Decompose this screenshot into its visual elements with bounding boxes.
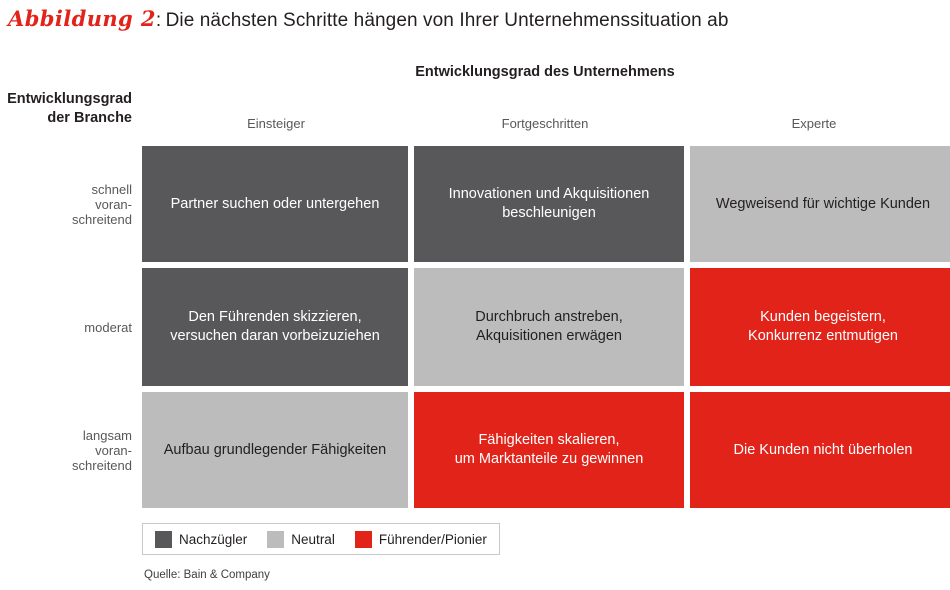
column-header-fortgeschritten: Fortgeschritten [410, 116, 680, 131]
matrix-cell-r0-c0: Partner suchen oder untergehen [142, 146, 408, 262]
row-headers: schnell voran- schreitend moderat langsa… [0, 146, 132, 508]
matrix-cell-line: Durchbruch anstreben, [475, 308, 623, 327]
matrix-cell-line: Die Kunden nicht überholen [734, 441, 913, 460]
row-header-line: moderat [0, 320, 132, 335]
matrix-cell-line: Wegweisend für wichtige Kunden [716, 195, 930, 214]
matrix-cell-r1-c1: Durchbruch anstreben, Akquisitionen erwä… [414, 268, 684, 386]
row-header-line: voran- [0, 197, 132, 212]
row-axis-title-line-2: der Branche [0, 109, 132, 128]
matrix-cell-line: um Marktanteile zu gewinnen [455, 450, 644, 469]
legend-label-nachzuegler: Nachzügler [179, 532, 247, 547]
matrix-cell-line: versuchen daran vorbeizuziehen [170, 327, 380, 346]
legend-swatch-red [355, 531, 372, 548]
legend-swatch-light-gray [267, 531, 284, 548]
legend-item-neutral: Neutral [267, 531, 335, 548]
column-header-einsteiger: Einsteiger [142, 116, 410, 131]
matrix-cell-r1-c0: Den Führenden skizzieren, versuchen dara… [142, 268, 408, 386]
matrix-cell-r0-c1: Innovationen und Akquisitionen beschleun… [414, 146, 684, 262]
column-axis-title: Entwicklungsgrad des Unternehmens [142, 64, 948, 80]
matrix-cell-line: Innovationen und Akquisitionen [449, 185, 650, 204]
page-title: Abbildung 2: Die nächsten Schritte hänge… [8, 6, 729, 32]
matrix-cell-line: Akquisitionen erwägen [475, 327, 623, 346]
matrix-cell-line: Partner suchen oder untergehen [171, 195, 380, 214]
legend-item-nachzuegler: Nachzügler [155, 531, 247, 548]
column-header-experte: Experte [680, 116, 948, 131]
legend-label-fuehrender-pionier: Führender/Pionier [379, 532, 487, 547]
row-header-schnell-voranschreitend: schnell voran- schreitend [0, 146, 132, 262]
figure-number-colon: : [156, 10, 161, 31]
matrix-cell-line: Fähigkeiten skalieren, [455, 431, 644, 450]
legend-label-neutral: Neutral [291, 532, 335, 547]
matrix-cell-line: Den Führenden skizzieren, [170, 308, 380, 327]
row-axis-title: Entwicklungsgrad der Branche [0, 90, 132, 128]
legend-swatch-dark-gray [155, 531, 172, 548]
row-header-line: schreitend [0, 458, 132, 473]
row-header-line: voran- [0, 443, 132, 458]
figure-title-text: Die nächsten Schritte hängen von Ihrer U… [166, 10, 729, 31]
matrix-grid: Partner suchen oder untergehen Innovatio… [142, 146, 948, 508]
matrix-cell-r0-c2: Wegweisend für wichtige Kunden [690, 146, 950, 262]
figure-number-label: Abbildung 2 [8, 6, 156, 31]
matrix-cell-line: Kunden begeistern, [748, 308, 898, 327]
matrix-cell-line: Aufbau grundlegender Fähigkeiten [164, 441, 387, 460]
matrix-cell-r1-c2: Kunden begeistern, Konkurrenz entmutigen [690, 268, 950, 386]
matrix-cell-line: beschleunigen [449, 204, 650, 223]
row-axis-title-line-1: Entwicklungsgrad [0, 90, 132, 109]
row-header-langsam-voranschreitend: langsam voran- schreitend [0, 392, 132, 508]
legend: Nachzügler Neutral Führender/Pionier [142, 523, 500, 555]
row-header-line: langsam [0, 428, 132, 443]
row-header-line: schnell [0, 182, 132, 197]
matrix-cell-r2-c2: Die Kunden nicht überholen [690, 392, 950, 508]
column-headers: Einsteiger Fortgeschritten Experte [142, 116, 948, 131]
row-header-line: schreitend [0, 212, 132, 227]
matrix-cell-r2-c1: Fähigkeiten skalieren, um Marktanteile z… [414, 392, 684, 508]
row-header-moderat: moderat [0, 268, 132, 386]
legend-item-fuehrender-pionier: Führender/Pionier [355, 531, 487, 548]
matrix-cell-line: Konkurrenz entmutigen [748, 327, 898, 346]
matrix-cell-r2-c0: Aufbau grundlegender Fähigkeiten [142, 392, 408, 508]
source-note: Quelle: Bain & Company [144, 569, 270, 581]
